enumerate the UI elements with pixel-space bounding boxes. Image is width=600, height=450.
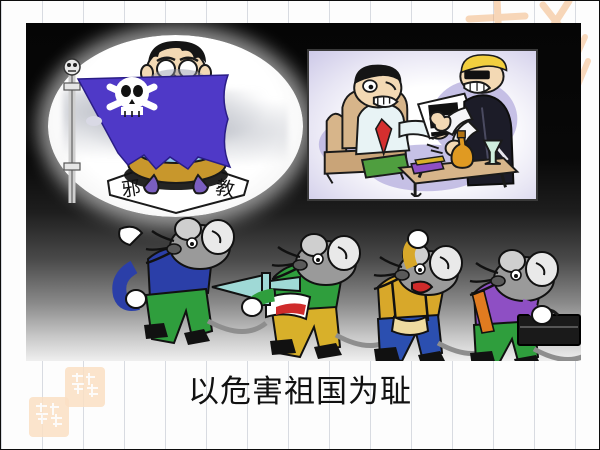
slide-caption: 以危害祖国为耻 [1,373,599,411]
trumpeter-rat [212,234,394,359]
briefcase-rat [470,250,581,361]
rat-parade-illustration [26,23,581,361]
pirate-flag [64,59,230,203]
slide-canvas: 邪 教 [0,0,600,450]
cartoon-panel: 邪 教 [26,23,581,361]
